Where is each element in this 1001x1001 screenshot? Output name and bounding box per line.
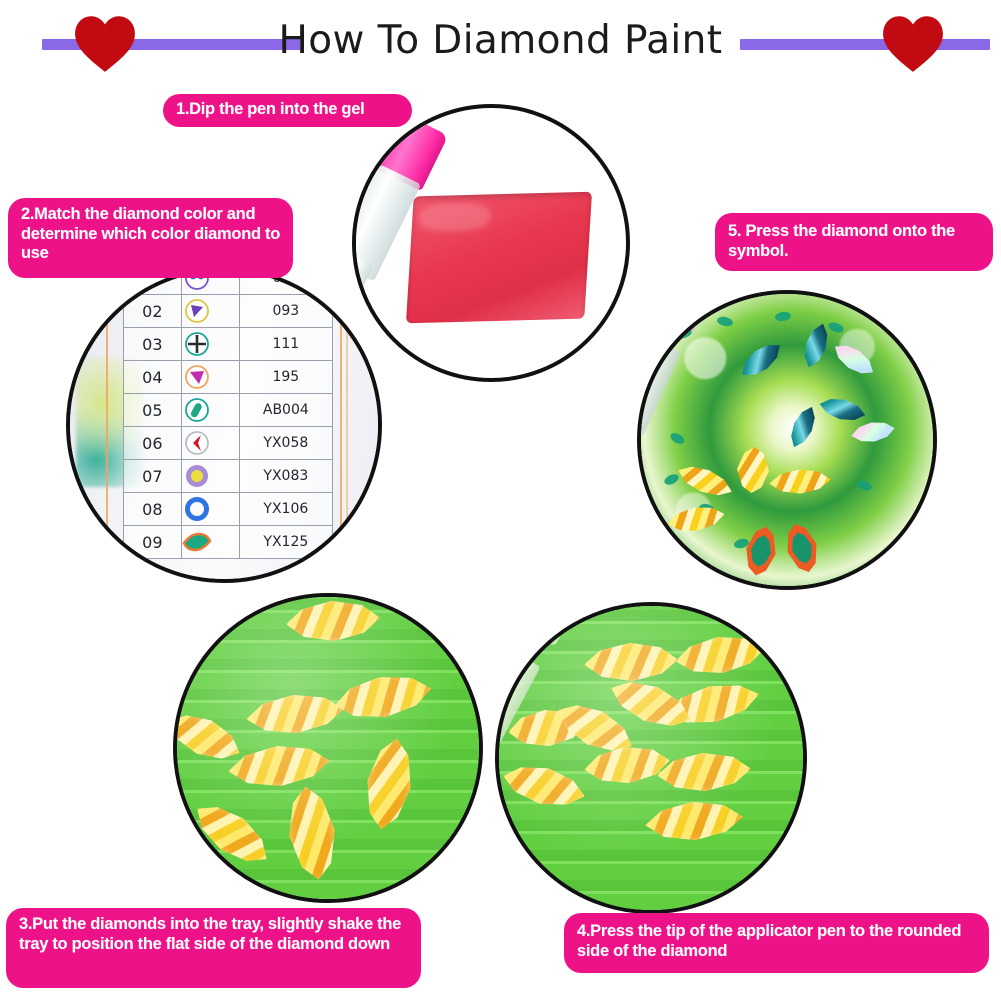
page-header: How To Diamond Paint bbox=[0, 0, 1001, 78]
legend-symbol-filled-dot-ring-icon bbox=[181, 460, 239, 493]
diamond-gem bbox=[817, 394, 868, 426]
legend-number: 08 bbox=[124, 493, 182, 526]
diamond-drill bbox=[550, 693, 640, 763]
diamond-drill bbox=[284, 597, 381, 645]
step-1-caption: 1.Dip the pen into the gel bbox=[163, 94, 412, 127]
table-row: 07 YX083 bbox=[124, 460, 333, 493]
step-3-photo bbox=[173, 593, 483, 903]
pen-neck bbox=[495, 719, 500, 761]
canvas-edge-line bbox=[346, 271, 348, 579]
canvas-symbol bbox=[856, 478, 873, 492]
diamond-gem bbox=[829, 338, 879, 381]
diamond-gem bbox=[785, 402, 821, 450]
legend-code: AB004 bbox=[239, 394, 332, 427]
diamond-drill bbox=[173, 704, 247, 770]
legend-number: 05 bbox=[124, 394, 182, 427]
legend-code: YX058 bbox=[239, 427, 332, 460]
step-4-photo bbox=[495, 602, 807, 914]
diamond-drill bbox=[582, 741, 672, 788]
applicator-pen bbox=[495, 608, 565, 777]
diamond-drill bbox=[604, 670, 698, 737]
step-4-caption: 4.Press the tip of the applicator pen to… bbox=[564, 913, 989, 973]
applicator-pen bbox=[637, 291, 704, 472]
pen-cap bbox=[653, 291, 703, 332]
step-5-caption: 5. Press the diamond onto the symbol. bbox=[715, 213, 993, 271]
diamond-gem bbox=[674, 459, 737, 503]
diamond-drill bbox=[656, 749, 753, 795]
diamond-drill bbox=[359, 733, 419, 835]
pen-body bbox=[637, 336, 682, 436]
diamond-gem bbox=[769, 467, 833, 496]
diamond-gem bbox=[736, 337, 787, 384]
legend-number: 02 bbox=[124, 295, 182, 328]
legend-code: 093 bbox=[239, 295, 332, 328]
page-title: How To Diamond Paint bbox=[0, 18, 1001, 63]
legend-code: YX125 bbox=[239, 526, 332, 559]
canvas-edge-line bbox=[340, 271, 342, 579]
canvas-symbol bbox=[669, 431, 686, 446]
legend-code: YX106 bbox=[239, 493, 332, 526]
pen-pickup-illustration bbox=[499, 606, 803, 910]
canvas-edge-line bbox=[106, 271, 108, 579]
diamond-gem bbox=[666, 502, 727, 536]
diamond-tray-illustration bbox=[177, 597, 479, 899]
gel-dip-illustration bbox=[356, 108, 626, 378]
legend-symbol-plus-icon bbox=[181, 328, 239, 361]
table-row: 05 AB004 bbox=[124, 394, 333, 427]
legend-symbol-left-chevron-icon bbox=[181, 427, 239, 460]
diamond-drill bbox=[673, 630, 767, 680]
table-row: 04 195 bbox=[124, 361, 333, 394]
legend-symbol-triangle-down-left-icon bbox=[181, 295, 239, 328]
diamond-drill bbox=[282, 782, 341, 885]
step-1-photo bbox=[352, 104, 630, 382]
symbol-legend-table: 028 02 093 03 111 04 bbox=[123, 267, 333, 559]
legend-symbol-open-ring-icon bbox=[181, 493, 239, 526]
legend-symbol-slanted-capsule-icon bbox=[181, 394, 239, 427]
legend-chart-illustration: 028 02 093 03 111 04 bbox=[70, 271, 378, 579]
finished-canvas-illustration bbox=[641, 294, 933, 586]
diamond-drill bbox=[245, 689, 347, 739]
table-row: 02 093 bbox=[124, 295, 333, 328]
canvas-symbol bbox=[775, 310, 792, 321]
canvas-symbol bbox=[716, 316, 734, 328]
step-2-caption: 2.Match the diamond color and determine … bbox=[8, 198, 293, 278]
diamond-drill bbox=[331, 667, 435, 725]
legend-code: 195 bbox=[239, 361, 332, 394]
pen-body bbox=[495, 649, 541, 744]
pen-cap bbox=[516, 608, 564, 646]
table-row: 03 111 bbox=[124, 328, 333, 361]
diamond-drill bbox=[663, 676, 763, 733]
step-3-caption: 3.Put the diamonds into the tray, slight… bbox=[6, 908, 421, 988]
legend-number: 07 bbox=[124, 460, 182, 493]
canvas-printed-leaf bbox=[741, 522, 781, 579]
legend-number: 03 bbox=[124, 328, 182, 361]
legend-number: 04 bbox=[124, 361, 182, 394]
legend-number: 09 bbox=[124, 526, 182, 559]
canvas-symbol bbox=[827, 321, 845, 335]
canvas-printed-leaf bbox=[780, 519, 823, 577]
legend-code: 111 bbox=[239, 328, 332, 361]
diamond-drill bbox=[226, 740, 332, 792]
step-2-photo: 028 02 093 03 111 04 bbox=[66, 267, 382, 583]
table-row: 06 YX058 bbox=[124, 427, 333, 460]
table-row: 08 YX106 bbox=[124, 493, 333, 526]
table-row: 09 YX125 bbox=[124, 526, 333, 559]
legend-symbol-triangle-down-right-icon bbox=[181, 361, 239, 394]
diamond-drill bbox=[506, 705, 588, 751]
legend-number: 06 bbox=[124, 427, 182, 460]
gel-pad bbox=[406, 192, 592, 324]
diamond-drill bbox=[643, 796, 744, 844]
legend-symbol-leaf-icon bbox=[181, 526, 239, 559]
diamond-gem-placed bbox=[736, 445, 771, 495]
diamond-drill bbox=[583, 640, 679, 685]
canvas-symbol bbox=[663, 472, 680, 486]
diamond-drill bbox=[499, 758, 590, 815]
step-5-photo bbox=[637, 290, 937, 590]
diamond-gem bbox=[850, 419, 897, 446]
diamond-drill bbox=[186, 793, 279, 876]
legend-code: YX083 bbox=[239, 460, 332, 493]
